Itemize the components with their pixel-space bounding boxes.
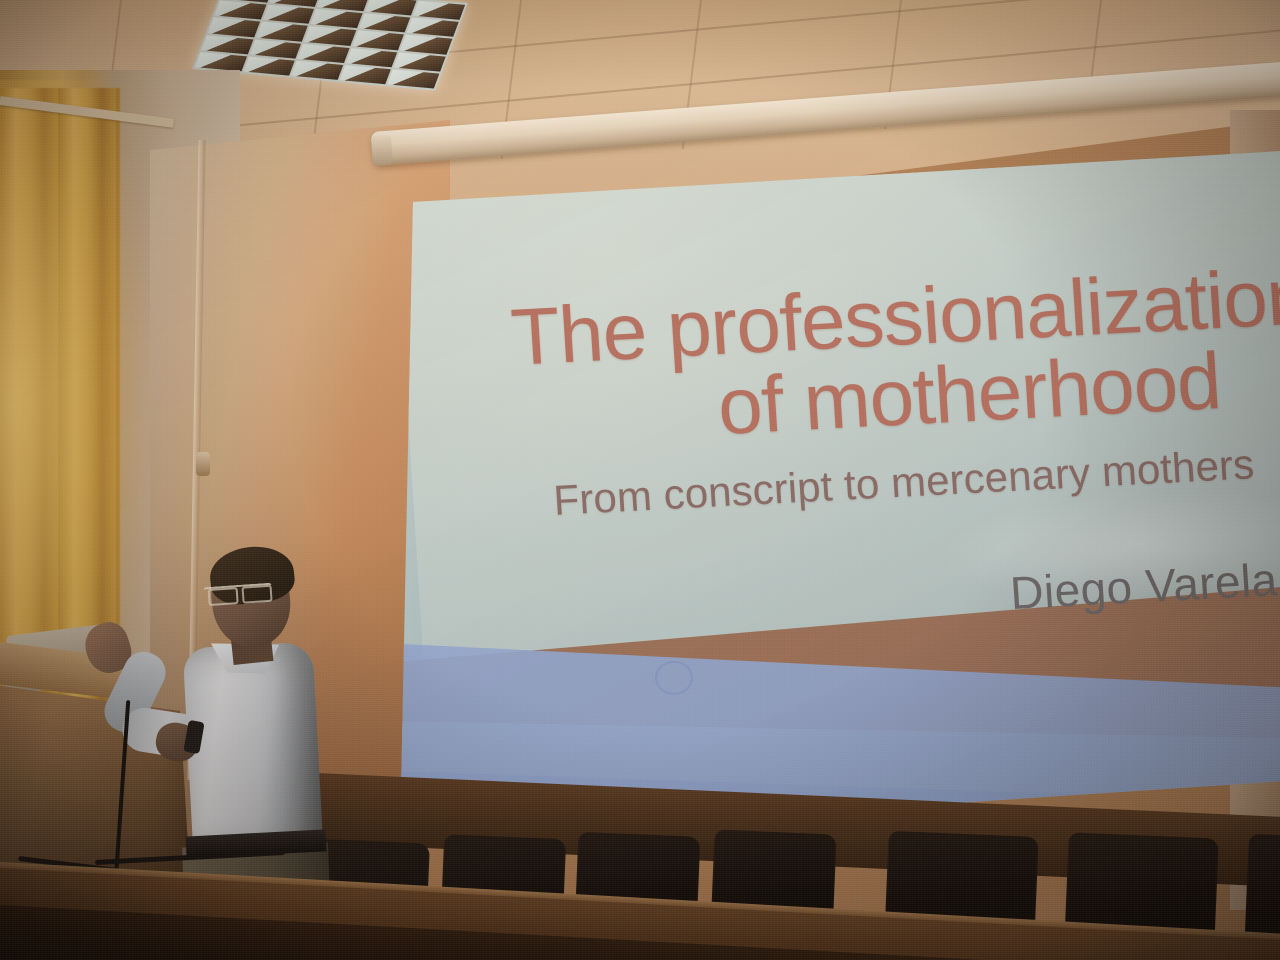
door-handle-icon[interactable] (196, 452, 210, 476)
presentation-slide: The professionalization of motherhood Fr… (400, 150, 1280, 840)
screen-roller-end-cap (371, 135, 393, 166)
eyeglasses-icon (203, 583, 272, 606)
chair[interactable] (1245, 834, 1280, 944)
lecture-hall-photo: The professionalization of motherhood Fr… (0, 0, 1280, 960)
torso-shirt (183, 642, 324, 859)
projection-screen: The professionalization of motherhood Fr… (400, 150, 1280, 840)
